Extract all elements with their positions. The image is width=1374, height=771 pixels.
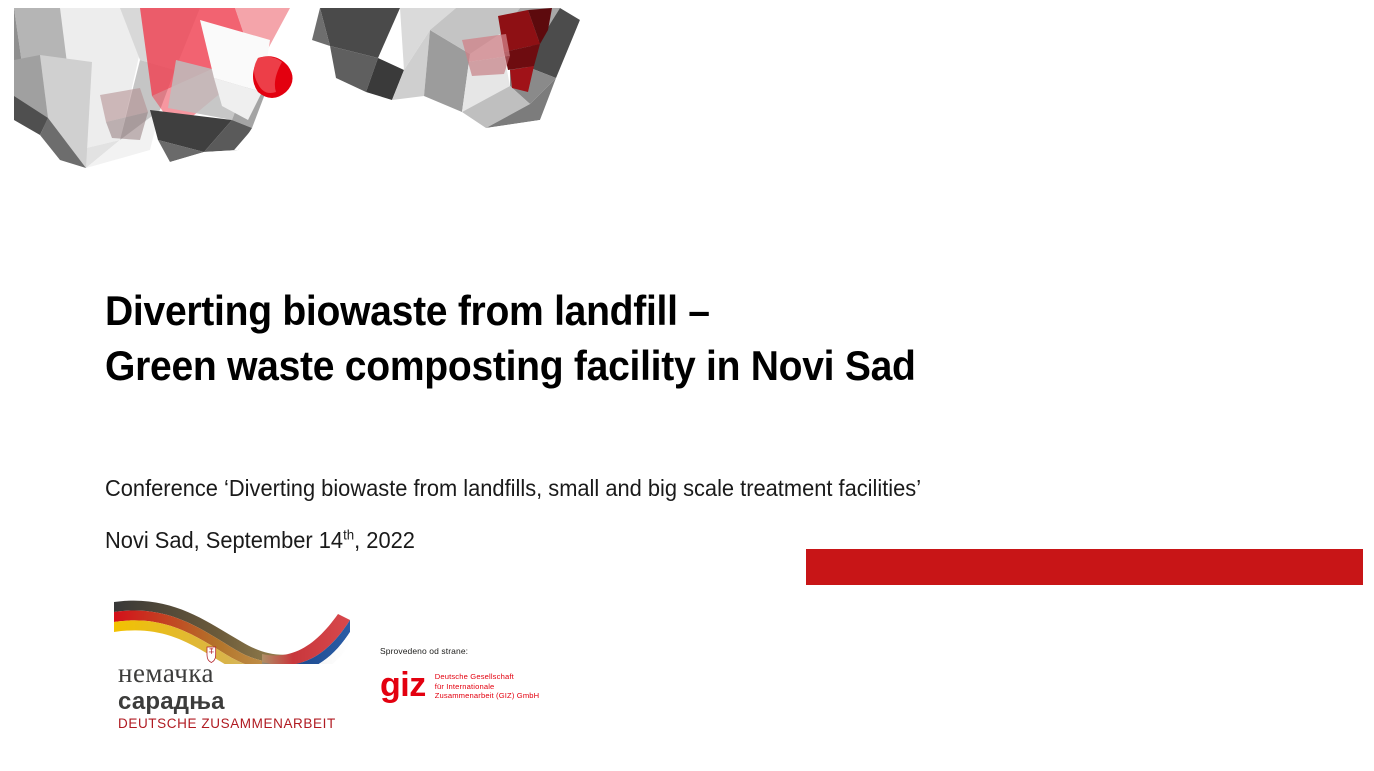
event-date-ordinal: th: [343, 526, 354, 542]
presentation-slide: Diverting biowaste from landfill – Green…: [0, 0, 1374, 771]
cooperation-line-deutsche-zusammenarbeit: DEUTSCHE ZUSAMMENARBEIT: [118, 715, 348, 733]
subtitle-block: Conference ‘Diverting biowaste from land…: [105, 473, 1255, 555]
cooperation-line-saradnja: сарадња: [118, 688, 348, 715]
giz-wordmark: giz: [380, 668, 426, 702]
giz-claim-line-1: Deutsche Gesellschaft: [435, 672, 540, 682]
red-accent-bar: [806, 549, 1363, 585]
giz-lockup: giz Deutsche Gesellschaft für Internatio…: [380, 668, 539, 702]
title-line-2: Green waste composting facility in Novi …: [105, 338, 1175, 393]
event-date-suffix: , 2022: [354, 527, 415, 553]
conference-name: Conference ‘Diverting biowaste from land…: [105, 473, 1198, 503]
event-date-prefix: Novi Sad, September 14: [105, 527, 343, 553]
giz-claim-line-3: Zusammenarbeit (GIZ) GmbH: [435, 691, 540, 701]
german-cooperation-logo: немачка сарадња DEUTSCHE ZUSAMMENARBEIT: [112, 592, 352, 742]
cooperation-logo-text: немачка сарадња DEUTSCHE ZUSAMMENARBEIT: [118, 658, 348, 733]
implemented-by-label: Sprovedeno od strane:: [380, 646, 560, 657]
giz-claim-text: Deutsche Gesellschaft für Internationale…: [435, 672, 540, 701]
giz-claim-line-2: für Internationale: [435, 682, 540, 692]
title-line-1: Diverting biowaste from landfill –: [105, 283, 1175, 338]
cooperation-line-nemacka: немачка: [118, 658, 348, 688]
german-serbian-flag-ribbon-icon: [112, 592, 352, 664]
abstract-polygon-banner-icon: [0, 0, 600, 180]
giz-logo-block: Sprovedeno od strane: giz Deutsche Gesel…: [380, 646, 560, 716]
page-title: Diverting biowaste from landfill – Green…: [105, 283, 1255, 393]
